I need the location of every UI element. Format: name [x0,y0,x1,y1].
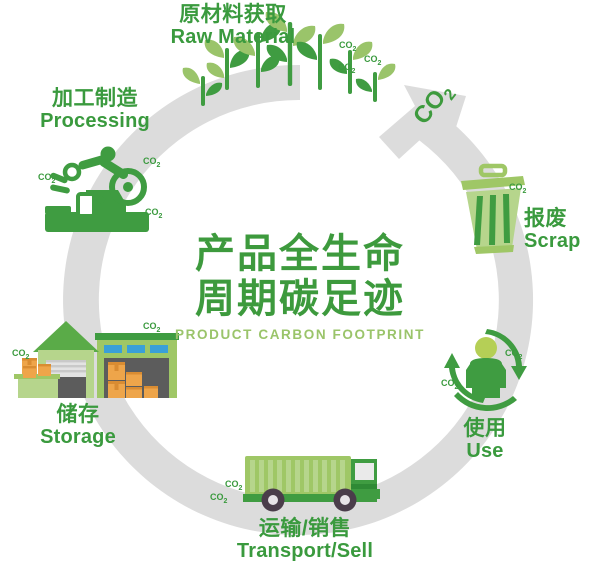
co2-label-processing-1: CO2 [38,172,55,185]
stage-label-scrap[interactable]: 报废 Scrap [524,208,600,252]
center-title: 产品全生命 周期碳足迹 PRODUCT CARBON FOOTPRINT [140,232,460,342]
stage-label-use[interactable]: 使用 Use [435,418,535,462]
stage-label-transport[interactable]: 运输/销售 Transport/Sell [210,518,400,562]
stage-label-storage[interactable]: 储存 Storage [8,404,148,448]
stage-label-raw-material-cn: 原材料获取 [138,4,328,27]
stage-label-scrap-cn: 报废 [524,208,600,231]
co2-label-transport-1: CO2 [225,479,242,492]
stage-label-scrap-en: Scrap [524,231,600,253]
center-title-line1: 产品全生命 [140,232,460,277]
trash-can-icon [461,166,525,254]
robot-arm-icon [45,147,149,233]
stage-label-use-en: Use [435,441,535,463]
stage-label-raw-material[interactable]: 原材料获取 Raw Material [138,4,328,48]
stage-label-storage-en: Storage [8,427,148,449]
co2-label-storage-1: CO2 [12,348,29,361]
stage-label-transport-en: Transport/Sell [210,541,400,563]
truck-icon [243,456,380,512]
co2-label-raw-3: CO2 [338,62,355,75]
stage-label-transport-cn: 运输/销售 [210,518,400,541]
stage-label-processing-cn: 加工制造 [15,88,175,111]
stage-label-use-cn: 使用 [435,418,535,441]
co2-label-transport-2: CO2 [210,492,227,505]
stage-label-raw-material-en: Raw Material [138,27,328,49]
co2-label-raw-1: CO2 [339,40,356,53]
co2-label-processing-2: CO2 [143,156,160,169]
co2-label-scrap-1: CO2 [509,182,526,195]
co2-label-processing-3: CO2 [145,207,162,220]
stage-label-storage-cn: 储存 [8,404,148,427]
co2-label-use-1: CO2 [505,348,522,361]
infographic-canvas: CO2 [0,0,600,571]
stage-label-processing[interactable]: 加工制造 Processing [15,88,175,132]
co2-label-raw-2: CO2 [364,54,381,67]
center-subtitle: PRODUCT CARBON FOOTPRINT [140,327,460,342]
center-title-line2: 周期碳足迹 [140,277,460,322]
co2-label-use-2: CO2 [441,378,458,391]
stage-label-processing-en: Processing [15,111,175,133]
